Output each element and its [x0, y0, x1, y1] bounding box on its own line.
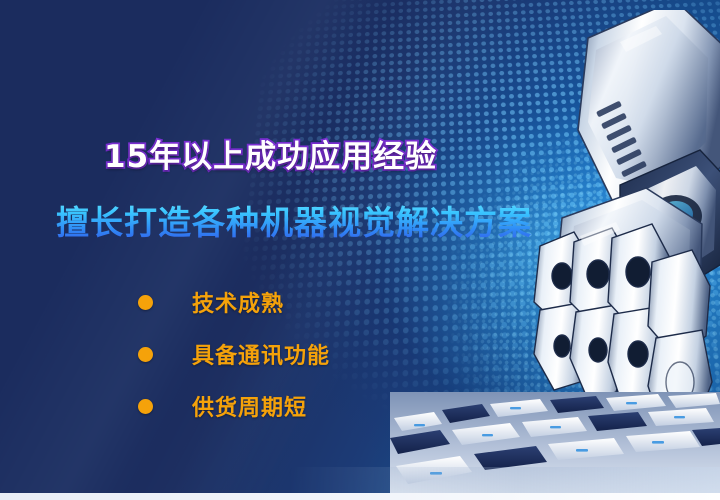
list-item-label: 技术成熟 — [192, 286, 284, 318]
headline-primary: 15年以上成功应用经验 — [104, 131, 437, 176]
list-item-label: 具备通讯功能 — [192, 338, 330, 370]
list-item: 具备通讯功能 — [138, 328, 330, 380]
orange-dot-icon — [138, 347, 153, 362]
orange-dot-icon — [138, 295, 153, 310]
orange-dot-icon — [138, 399, 153, 414]
list-item: 技术成熟 — [138, 276, 330, 328]
headline-secondary: 擅长打造各种机器视觉解决方案 — [56, 196, 532, 244]
list-item-label: 供货周期短 — [192, 390, 307, 422]
promo-banner: 15年以上成功应用经验 擅长打造各种机器视觉解决方案 擅长打造各种机器视觉解决方… — [0, 0, 720, 500]
text-content: 15年以上成功应用经验 擅长打造各种机器视觉解决方案 擅长打造各种机器视觉解决方… — [0, 0, 520, 500]
feature-list: 技术成熟 具备通讯功能 供货周期短 — [138, 276, 330, 432]
list-item: 供货周期短 — [138, 380, 330, 432]
